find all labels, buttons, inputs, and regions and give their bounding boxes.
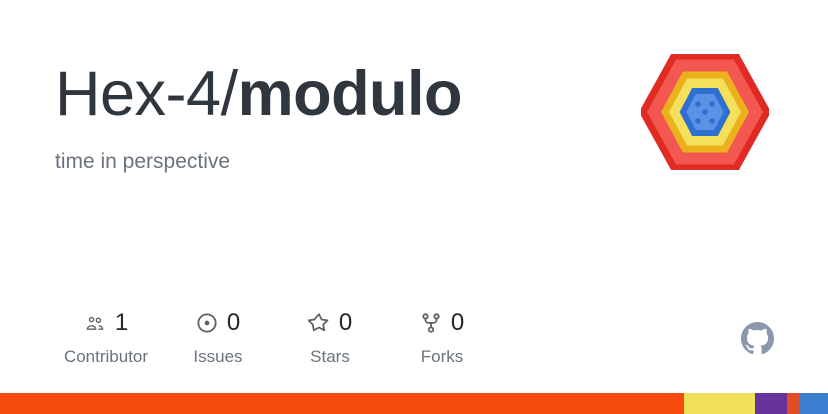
repo-title-separator: / <box>221 59 238 129</box>
hexagon-dot-4 <box>695 118 701 124</box>
stat-contributors-value-row: 1 <box>84 308 128 338</box>
repo-stats: 1 Contributor 0 Issues <box>50 308 498 367</box>
stat-forks: 0 Forks <box>386 308 498 367</box>
repo-description: time in perspective <box>55 148 230 176</box>
stat-forks-value: 0 <box>451 309 464 337</box>
page-title: Hex-4/modulo <box>55 56 462 132</box>
repo-name[interactable]: modulo <box>238 59 462 129</box>
stat-issues: 0 Issues <box>162 308 274 367</box>
avatar <box>641 54 769 170</box>
stat-forks-value-row: 0 <box>420 308 464 338</box>
language-segment <box>684 393 755 414</box>
language-segment <box>0 393 684 414</box>
stat-stars: 0 Stars <box>274 308 386 367</box>
hexagon-dot-2 <box>709 101 715 107</box>
hexagon-dot-5 <box>709 118 715 124</box>
stat-stars-value-row: 0 <box>308 308 352 338</box>
repository-social-preview-card: Hex-4/modulo time in perspective <box>0 0 828 414</box>
stat-contributors-label: Contributor <box>64 347 148 367</box>
stat-issues-label: Issues <box>193 347 242 367</box>
people-icon <box>84 312 106 334</box>
stat-contributors-value: 1 <box>115 309 128 337</box>
language-segment <box>787 393 800 414</box>
hexagon-dot-1 <box>695 101 701 107</box>
language-segment <box>800 393 828 414</box>
stat-forks-label: Forks <box>421 347 464 367</box>
language-bar <box>0 393 828 414</box>
language-segment <box>755 393 787 414</box>
stat-issues-value-row: 0 <box>196 308 240 338</box>
repo-owner[interactable]: Hex-4 <box>55 59 221 129</box>
stat-contributors: 1 Contributor <box>50 308 162 367</box>
hexagon-dot-3 <box>702 109 708 115</box>
star-icon <box>308 312 330 334</box>
stat-issues-value: 0 <box>227 309 240 337</box>
github-mark-icon <box>741 322 774 355</box>
stat-stars-value: 0 <box>339 309 352 337</box>
issue-opened-icon <box>196 312 218 334</box>
hexagon-logo-icon <box>641 54 769 170</box>
stat-stars-label: Stars <box>310 347 350 367</box>
repo-forked-icon <box>420 312 442 334</box>
